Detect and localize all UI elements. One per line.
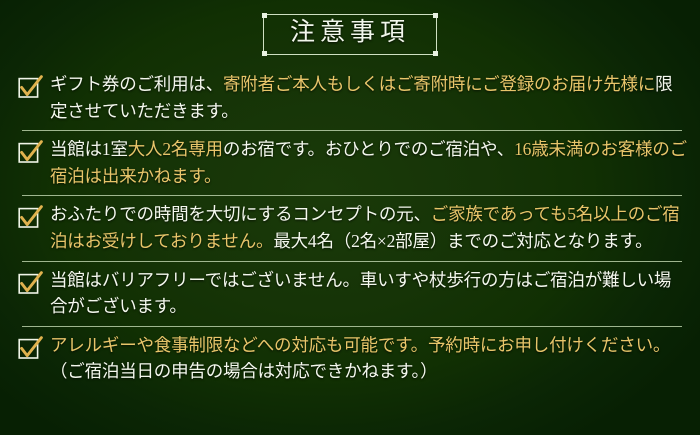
- notice-text: ギフト券のご利用は、寄附者ご本人もしくはご寄附時にご登録のお届け先様に限定させて…: [50, 71, 688, 124]
- title-corner-top-right: [433, 13, 438, 18]
- title-corner-bottom-right: [433, 51, 438, 56]
- notice-text-segment: 最大4名（2名×2部屋）までのご対応となります。: [273, 231, 652, 251]
- notice-list: ギフト券のご利用は、寄附者ご本人もしくはご寄附時にご登録のお届け先様に限定させて…: [14, 66, 688, 391]
- notice-text-segment: のお宿です。おひとりでのご宿泊や、: [223, 139, 514, 159]
- notice-divider: [22, 130, 682, 131]
- notice-text-segment: ギフト券のご利用は、: [50, 74, 223, 94]
- page-title-wrapper: 注意事項: [0, 14, 700, 55]
- notice-text-segment: 寄附者ご本人もしくはご寄附時にご登録のお届け先様に: [223, 74, 655, 94]
- notice-two-adults-per-room: 当館は1室大人2名専用のお宿です。おひとりでのご宿泊や、16歳未満のお客様のご宿…: [14, 131, 688, 195]
- notice-text-segment: （ご宿泊当日の申告の場合は対応できかねます。）: [50, 361, 437, 381]
- notice-text-segment: 当館は1室: [50, 139, 128, 159]
- page-title-box: 注意事項: [263, 14, 437, 55]
- checkbox-checked-icon: [18, 140, 42, 164]
- notice-page: 注意事項 ギフト券のご利用は、寄附者ご本人もしくはご寄附時にご登録のお届け先様に…: [0, 0, 700, 435]
- checkbox-checked-icon: [18, 205, 42, 229]
- notice-allergy-support: アレルギーや食事制限などへの対応も可能です。予約時にお申し付けください。（ご宿泊…: [14, 327, 688, 391]
- notice-text: おふたりでの時間を大切にするコンセプトの元、ご家族であっても5名以上のご宿泊はお…: [50, 201, 688, 254]
- title-corner-bottom-left: [262, 51, 267, 56]
- notice-divider: [22, 195, 682, 196]
- notice-max-four-guests: おふたりでの時間を大切にするコンセプトの元、ご家族であっても5名以上のご宿泊はお…: [14, 196, 688, 260]
- notice-text: 当館はバリアフリーではございません。車いすや杖歩行の方はご宿泊が難しい場合がござ…: [50, 267, 688, 320]
- checkbox-checked-icon: [18, 336, 42, 360]
- notice-text-segment: 当館はバリアフリーではございません。車いすや杖歩行の方はご宿泊が難しい場合がござ…: [50, 270, 671, 317]
- notice-text: 当館は1室大人2名専用のお宿です。おひとりでのご宿泊や、16歳未満のお客様のご宿…: [50, 136, 688, 189]
- checkbox-checked-icon: [18, 271, 42, 295]
- notice-no-barrier-free: 当館はバリアフリーではございません。車いすや杖歩行の方はご宿泊が難しい場合がござ…: [14, 262, 688, 326]
- notice-text-segment: 大人2名専用: [128, 139, 223, 159]
- title-corner-top-left: [262, 13, 267, 18]
- notice-divider: [22, 326, 682, 327]
- notice-text-segment: おふたりでの時間を大切にするコンセプトの元、: [50, 204, 431, 224]
- notice-text: アレルギーや食事制限などへの対応も可能です。予約時にお申し付けください。（ご宿泊…: [50, 332, 688, 385]
- notice-text-segment: アレルギーや食事制限などへの対応も可能です。予約時にお申し付けください。: [50, 335, 670, 355]
- notice-gift-certificate: ギフト券のご利用は、寄附者ご本人もしくはご寄附時にご登録のお届け先様に限定させて…: [14, 66, 688, 130]
- notice-divider: [22, 261, 682, 262]
- checkbox-checked-icon: [18, 75, 42, 99]
- page-title: 注意事項: [290, 19, 410, 48]
